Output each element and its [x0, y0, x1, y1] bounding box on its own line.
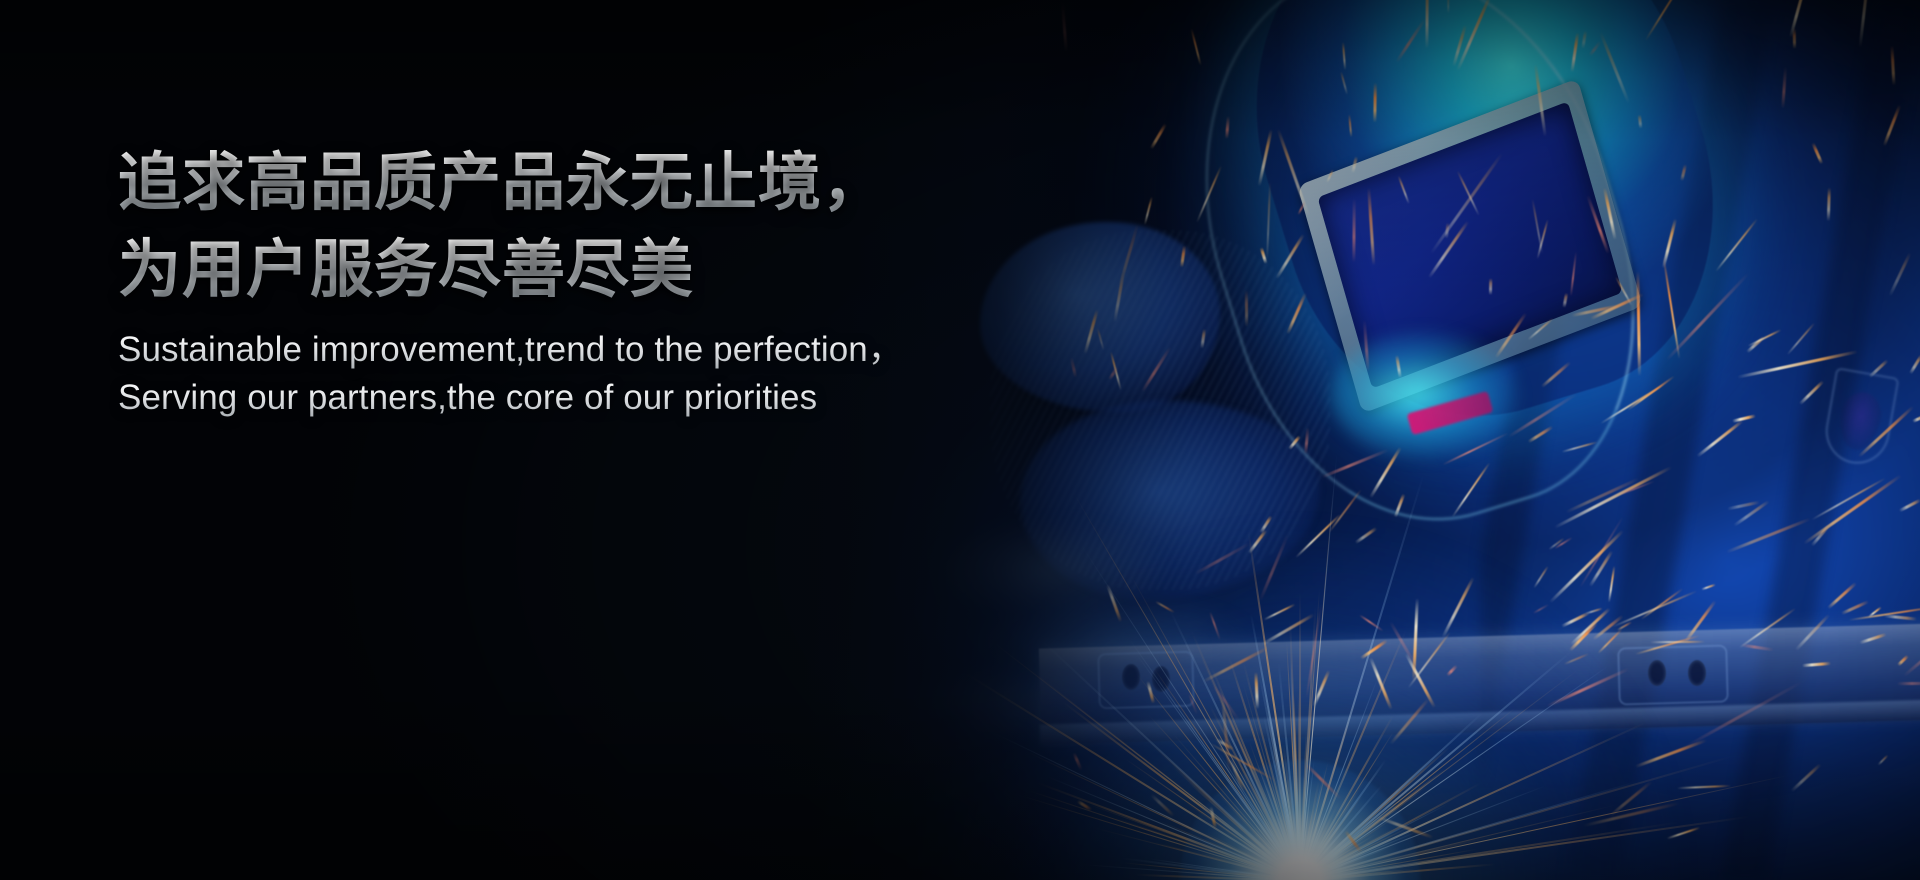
subtitle-line-1: Sustainable improvement,trend to the per… [118, 326, 998, 374]
headline-line-2: 为用户服务尽善尽美 [118, 227, 998, 314]
subtitle-block: Sustainable improvement,trend to the per… [118, 326, 998, 422]
hero-banner: 追求高品质产品永无止境， 为用户服务尽善尽美 Sustainable impro… [0, 0, 1920, 880]
subtitle-line-2: Serving our partners,the core of our pri… [118, 374, 998, 422]
headline-line-1: 追求高品质产品永无止境， [118, 140, 998, 227]
hero-copy: 追求高品质产品永无止境， 为用户服务尽善尽美 Sustainable impro… [118, 140, 998, 422]
vignette-overlay [0, 0, 1920, 880]
